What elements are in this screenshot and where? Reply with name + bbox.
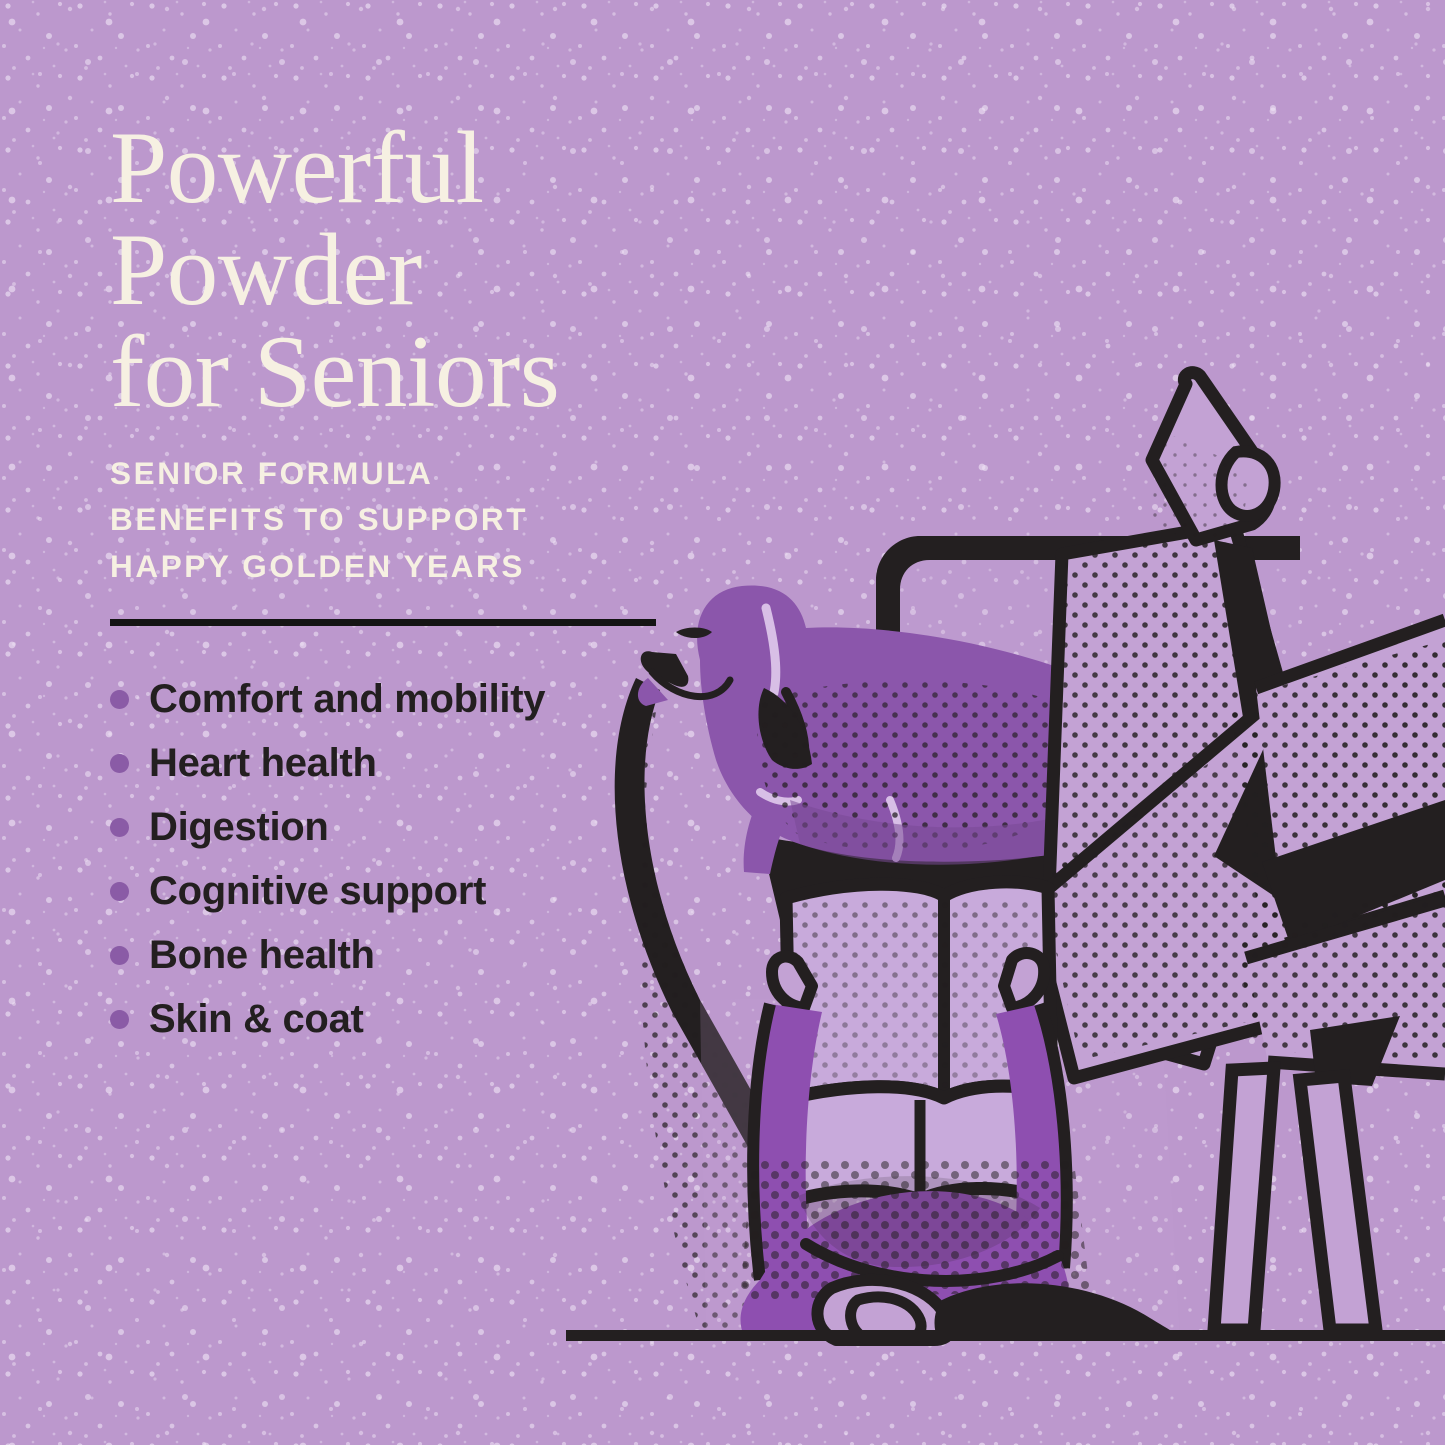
bullet-dot-icon: [110, 882, 129, 901]
bare-foot: [1150, 373, 1275, 560]
page-title: Powerful Powder for Seniors: [110, 118, 710, 424]
benefit-label: Digestion: [149, 805, 329, 850]
bullet-dot-icon: [110, 1010, 129, 1029]
hand-right: [1004, 953, 1044, 1008]
benefit-label: Heart health: [149, 741, 377, 786]
list-item: Comfort and mobility: [110, 668, 710, 732]
list-item: Bone health: [110, 924, 710, 988]
benefits-list: Comfort and mobility Heart health Digest…: [110, 668, 710, 1052]
subtitle: SENIOR FORMULA BENEFITS TO SUPPORT HAPPY…: [110, 450, 710, 589]
list-item: Cognitive support: [110, 860, 710, 924]
raised-leg-back: [1214, 620, 1445, 1330]
benefit-label: Cognitive support: [149, 869, 486, 914]
poster-canvas: Powerful Powder for Seniors SENIOR FORMU…: [0, 0, 1445, 1445]
list-item: Digestion: [110, 796, 710, 860]
list-item: Skin & coat: [110, 988, 710, 1052]
benefit-label: Skin & coat: [149, 997, 364, 1042]
bullet-dot-icon: [110, 946, 129, 965]
list-item: Heart health: [110, 732, 710, 796]
bullet-dot-icon: [110, 754, 129, 773]
divider-rule: [110, 619, 656, 626]
floor-line: [566, 1330, 1445, 1341]
benefit-label: Bone health: [149, 933, 375, 978]
hand-left: [772, 957, 812, 1008]
bullet-dot-icon: [110, 818, 129, 837]
bullet-dot-icon: [110, 690, 129, 709]
benefit-label: Comfort and mobility: [149, 677, 545, 722]
text-content-block: Powerful Powder for Seniors SENIOR FORMU…: [110, 118, 710, 1052]
